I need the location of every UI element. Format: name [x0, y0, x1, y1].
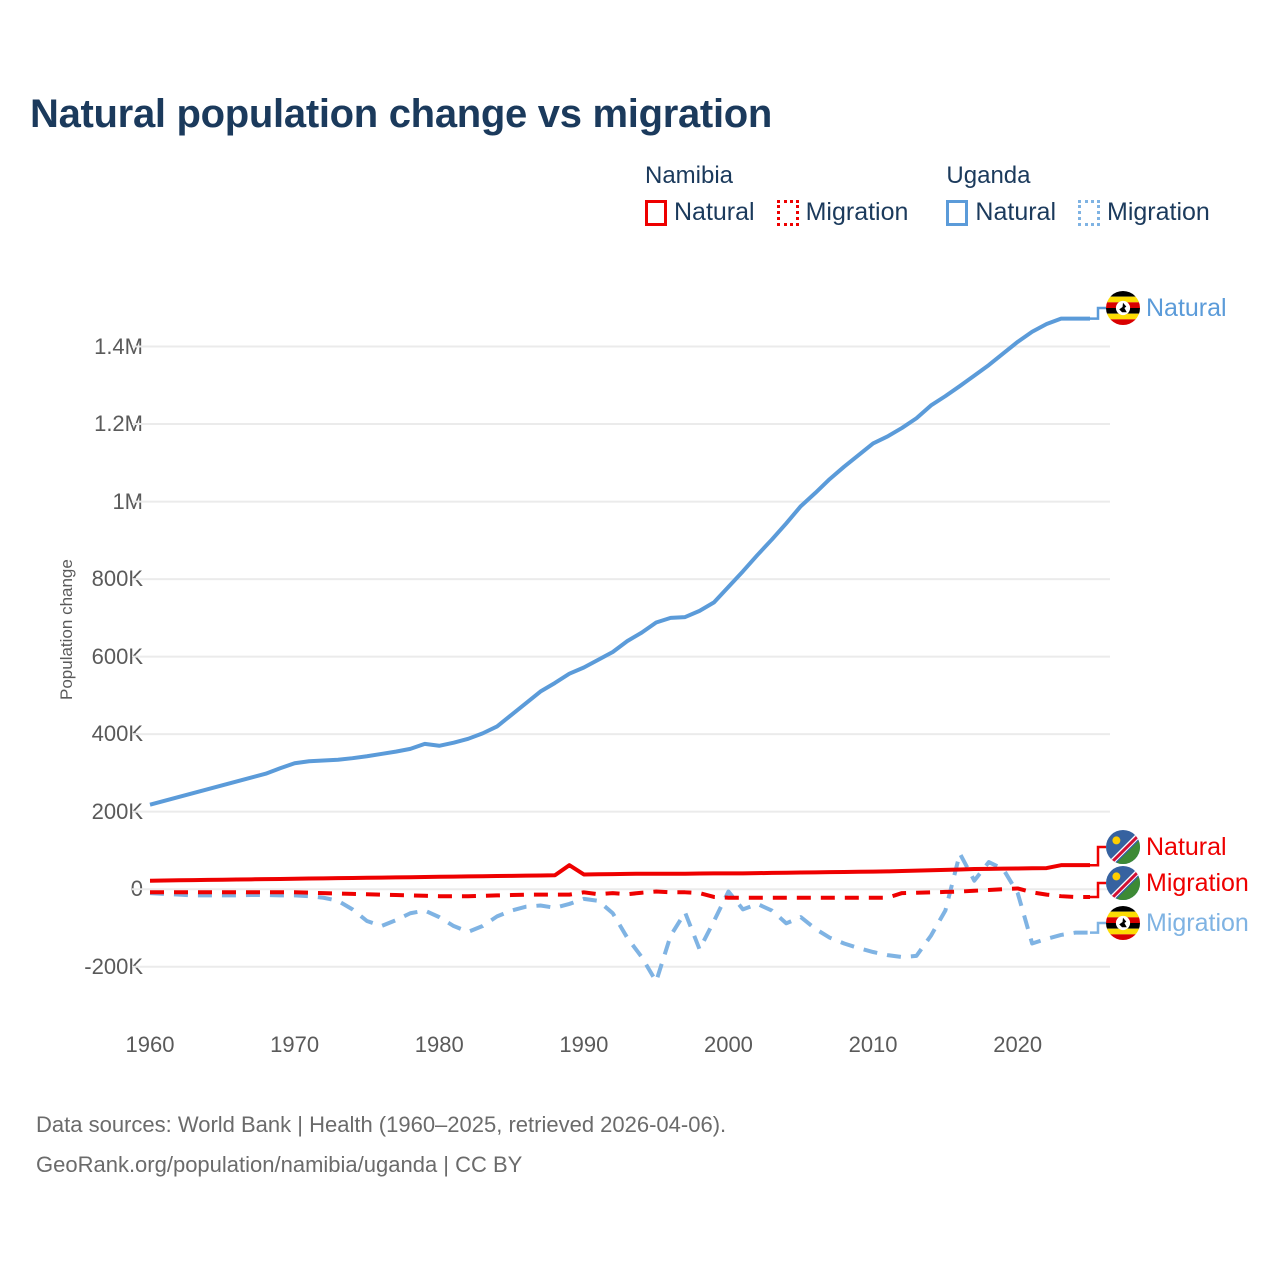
legend-item-label: Migration [1107, 198, 1210, 227]
legend-items: NaturalMigration [645, 198, 908, 227]
y-tick-label: 1.4M [94, 334, 143, 360]
legend-country-label: Uganda [946, 162, 1209, 190]
page-title: Natural population change vs migration [30, 92, 772, 137]
uganda-flag-icon [1106, 291, 1140, 325]
namibia-flag-icon [1106, 830, 1140, 864]
x-tick-label: 1980 [415, 1032, 464, 1058]
x-tick-label: 2000 [704, 1032, 753, 1058]
series-label-namibia-migration: Migration [1106, 866, 1249, 900]
y-tick-label: 200K [92, 799, 143, 825]
series-line-namibia-migration [150, 888, 1090, 897]
namibia-flag-icon [1106, 866, 1140, 900]
legend-item-uganda-migration[interactable]: Migration [1078, 198, 1210, 227]
legend-item-label: Natural [674, 198, 755, 227]
footer-attribution: GeoRank.org/population/namibia/uganda | … [36, 1152, 522, 1178]
legend: NamibiaNaturalMigrationUgandaNaturalMigr… [645, 162, 1210, 227]
y-tick-label: 1.2M [94, 411, 143, 437]
legend-item-namibia-natural[interactable]: Natural [645, 198, 755, 227]
y-tick-label: 400K [92, 721, 143, 747]
legend-swatch-dotted [777, 200, 799, 226]
series-label-uganda-migration: Migration [1106, 906, 1249, 940]
legend-item-label: Natural [975, 198, 1056, 227]
legend-swatch-dotted [1078, 200, 1100, 226]
series-label-text: Natural [1146, 294, 1227, 323]
x-tick-label: 1990 [559, 1032, 608, 1058]
y-tick-label: -200K [84, 954, 143, 980]
legend-swatch-solid [645, 200, 667, 226]
y-tick-label: 0 [131, 876, 143, 902]
y-axis-title: Population change [57, 559, 77, 700]
series-label-text: Natural [1146, 833, 1227, 862]
legend-item-namibia-migration[interactable]: Migration [777, 198, 909, 227]
footer-data-sources: Data sources: World Bank | Health (1960–… [36, 1112, 726, 1138]
series-line-namibia-natural [150, 865, 1090, 881]
y-tick-label: 1M [112, 489, 143, 515]
series-label-namibia-natural: Natural [1106, 830, 1227, 864]
chart-root: Natural population change vs migration N… [0, 0, 1280, 1280]
y-tick-label: 600K [92, 644, 143, 670]
x-tick-label: 1960 [126, 1032, 175, 1058]
leader-line-namibia-natural [1090, 847, 1106, 865]
legend-item-uganda-natural[interactable]: Natural [946, 198, 1056, 227]
x-tick-label: 2020 [993, 1032, 1042, 1058]
uganda-flag-icon [1106, 906, 1140, 940]
legend-group-uganda: UgandaNaturalMigration [946, 162, 1209, 227]
leader-line-uganda-migration [1090, 923, 1106, 933]
series-label-uganda-natural: Natural [1106, 291, 1227, 325]
series-line-uganda-migration [150, 854, 1090, 982]
series-label-text: Migration [1146, 909, 1249, 938]
x-tick-label: 1970 [270, 1032, 319, 1058]
leader-line-uganda-natural [1090, 308, 1106, 319]
legend-group-namibia: NamibiaNaturalMigration [645, 162, 908, 227]
x-tick-label: 2010 [849, 1032, 898, 1058]
y-tick-label: 800K [92, 566, 143, 592]
series-label-text: Migration [1146, 869, 1249, 898]
legend-swatch-solid [946, 200, 968, 226]
series-line-uganda-natural [150, 319, 1090, 805]
legend-item-label: Migration [806, 198, 909, 227]
legend-items: NaturalMigration [946, 198, 1209, 227]
leader-line-namibia-migration [1090, 883, 1106, 897]
legend-country-label: Namibia [645, 162, 908, 190]
